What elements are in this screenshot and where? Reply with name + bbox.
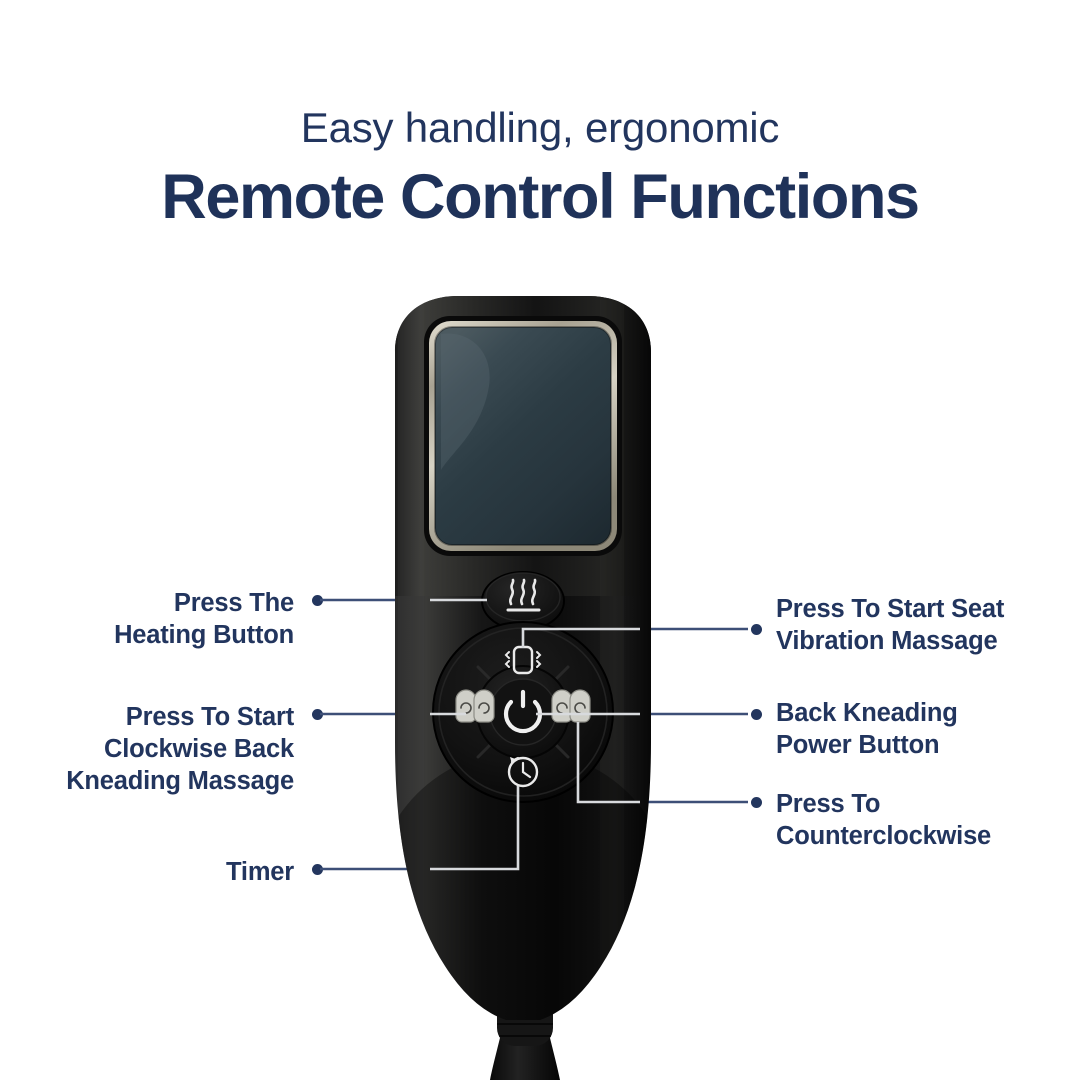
- infographic-canvas: Easy handling, ergonomic Remote Control …: [0, 0, 1080, 1080]
- connector-seat-vibration-inner: [523, 629, 640, 648]
- connector-lines-inner: [0, 0, 1080, 1080]
- connector-counterclockwise-inner: [578, 722, 640, 802]
- connector-timer-inner: [430, 786, 518, 869]
